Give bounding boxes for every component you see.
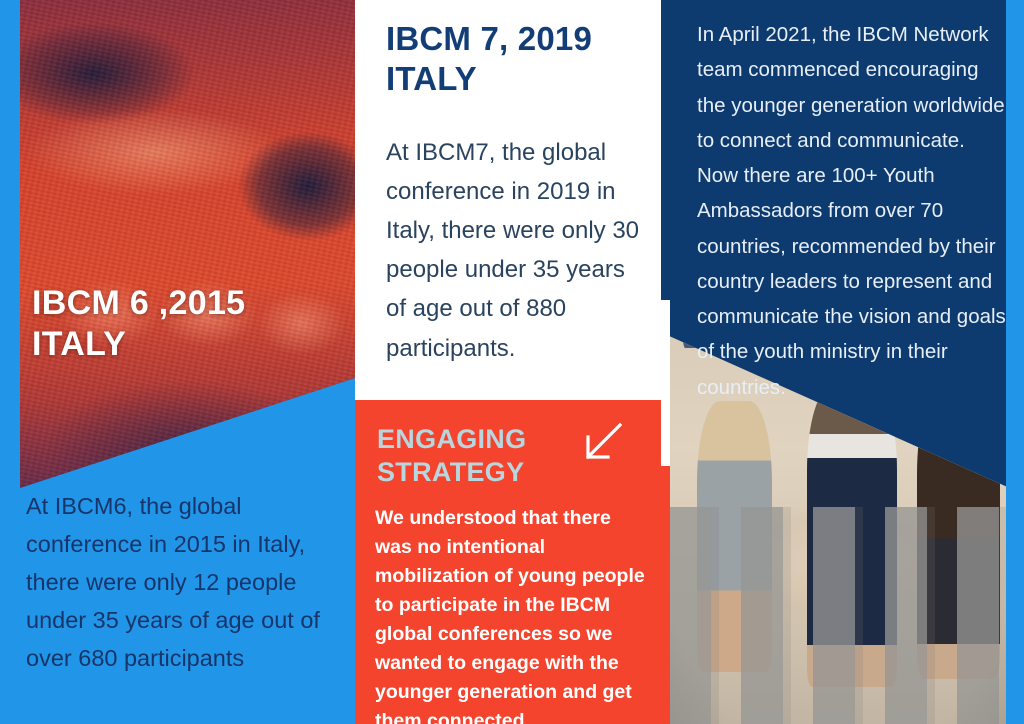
engaging-strategy-body-text: We understood that there was no intentio… (375, 504, 650, 724)
red-edge-divider (661, 466, 670, 724)
photo-grain-texture (20, 0, 355, 490)
ibcm7-title: IBCM 7, 2019 ITALY (386, 19, 651, 100)
left-column: IBCM 6 ,2015 ITALY At IBCM6, the global … (0, 0, 355, 724)
right-blue-edge-strip (1006, 0, 1024, 724)
arrow-down-left-icon (580, 420, 626, 466)
middle-column: IBCM 7, 2019 ITALY At IBCM7, the global … (355, 0, 661, 724)
ibcm6-photo (20, 0, 355, 490)
engaging-strategy-heading: ENGAGING STRATEGY (377, 423, 567, 489)
engaging-strategy-panel: ENGAGING STRATEGY We understood that the… (355, 400, 661, 724)
youth-ambassadors-body-text: In April 2021, the IBCM Network team com… (697, 17, 1007, 405)
ibcm6-photo-caption: IBCM 6 ,2015 ITALY (32, 283, 245, 366)
ibcm7-body-text: At IBCM7, the global conference in 2019 … (386, 133, 648, 368)
white-edge-divider (661, 300, 670, 466)
right-column: In April 2021, the IBCM Network team com… (661, 0, 1024, 724)
ibcm6-body-text: At IBCM6, the global conference in 2015 … (26, 487, 332, 677)
infographic-page: IBCM 6 ,2015 ITALY At IBCM6, the global … (0, 0, 1024, 724)
